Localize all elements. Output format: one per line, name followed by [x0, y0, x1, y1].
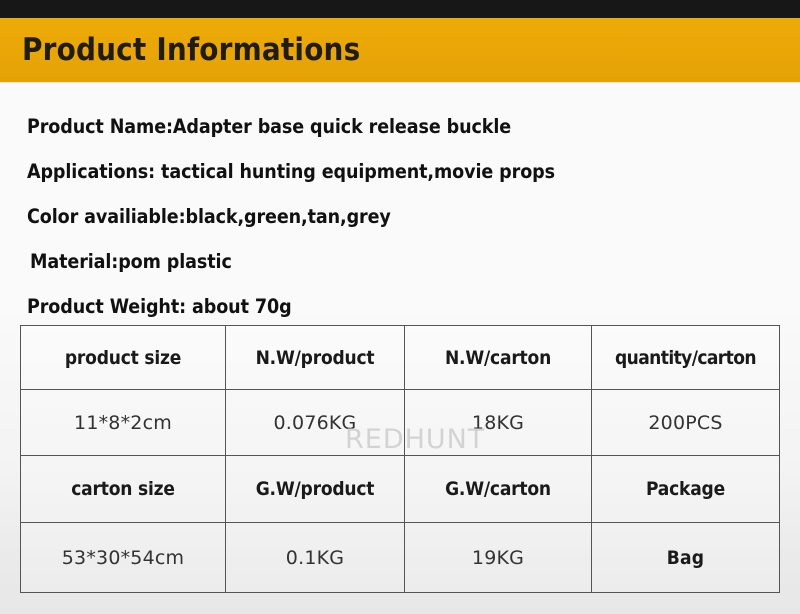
- product-information-page: Product Informations Product Name:Adapte…: [0, 0, 800, 614]
- table-header-cell-gw-product: G.W/product: [226, 456, 405, 523]
- table-row: 53*30*54cm 0.1KG 19KG Bag: [21, 523, 780, 593]
- value-package: Bag: [667, 547, 704, 569]
- table-cell-carton-size-value: 53*30*54cm: [21, 523, 226, 593]
- table-header-cell-product-size: product size: [21, 326, 226, 390]
- specification-table: product size N.W/product N.W/carton quan…: [20, 325, 780, 593]
- table-cell-gw-product-value: 0.1KG: [226, 523, 405, 593]
- value-carton-size: 53*30*54cm: [62, 547, 185, 569]
- table-header-cell-package: Package: [592, 456, 780, 523]
- table-header-cell-gw-carton: G.W/carton: [405, 456, 592, 523]
- spec-line-material: Material:pom plastic: [27, 239, 767, 284]
- value-product-size: 11*8*2cm: [74, 412, 172, 434]
- header-label-carton-size: carton size: [71, 478, 175, 500]
- table-header-cell-carton-size: carton size: [21, 456, 226, 523]
- table-cell-quantity-carton-value: 200PCS: [592, 390, 780, 456]
- header-banner: Product Informations: [0, 18, 800, 82]
- value-nw-product: 0.076KG: [274, 412, 357, 434]
- header-label-nw-carton: N.W/carton: [445, 347, 551, 369]
- spec-line-applications: Applications: tactical hunting equipment…: [27, 149, 767, 194]
- table-cell-nw-carton-value: 18KG: [405, 390, 592, 456]
- value-gw-carton: 19KG: [472, 547, 524, 569]
- table-row: 11*8*2cm 0.076KG 18KG 200PCS: [21, 390, 780, 456]
- table-cell-product-size-value: 11*8*2cm: [21, 390, 226, 456]
- top-dark-strip: [0, 0, 800, 18]
- value-gw-product: 0.1KG: [286, 547, 344, 569]
- header-label-product-size: product size: [65, 347, 181, 369]
- specification-list: Product Name:Adapter base quick release …: [27, 104, 767, 329]
- header-label-package: Package: [646, 478, 725, 500]
- table-header-cell-nw-product: N.W/product: [226, 326, 405, 390]
- header-label-quantity-carton: quantity/carton: [615, 347, 756, 369]
- spec-line-product-name: Product Name:Adapter base quick release …: [27, 104, 767, 149]
- table-header-cell-quantity-carton: quantity/carton: [592, 326, 780, 390]
- table-cell-nw-product-value: 0.076KG: [226, 390, 405, 456]
- spec-line-color-available: Color availiable:black,green,tan,grey: [27, 194, 767, 239]
- table-cell-gw-carton-value: 19KG: [405, 523, 592, 593]
- table-header-row-2: carton size G.W/product G.W/carton Packa…: [21, 456, 780, 523]
- header-label-gw-product: G.W/product: [256, 478, 375, 500]
- value-nw-carton: 18KG: [472, 412, 524, 434]
- page-title: Product Informations: [22, 32, 360, 68]
- header-label-gw-carton: G.W/carton: [445, 478, 551, 500]
- table-header-cell-nw-carton: N.W/carton: [405, 326, 592, 390]
- table-header-row-1: product size N.W/product N.W/carton quan…: [21, 326, 780, 390]
- value-quantity-carton: 200PCS: [648, 412, 722, 434]
- table-cell-package-value: Bag: [592, 523, 780, 593]
- header-label-nw-product: N.W/product: [256, 347, 375, 369]
- spec-line-product-weight: Product Weight: about 70g: [27, 284, 767, 329]
